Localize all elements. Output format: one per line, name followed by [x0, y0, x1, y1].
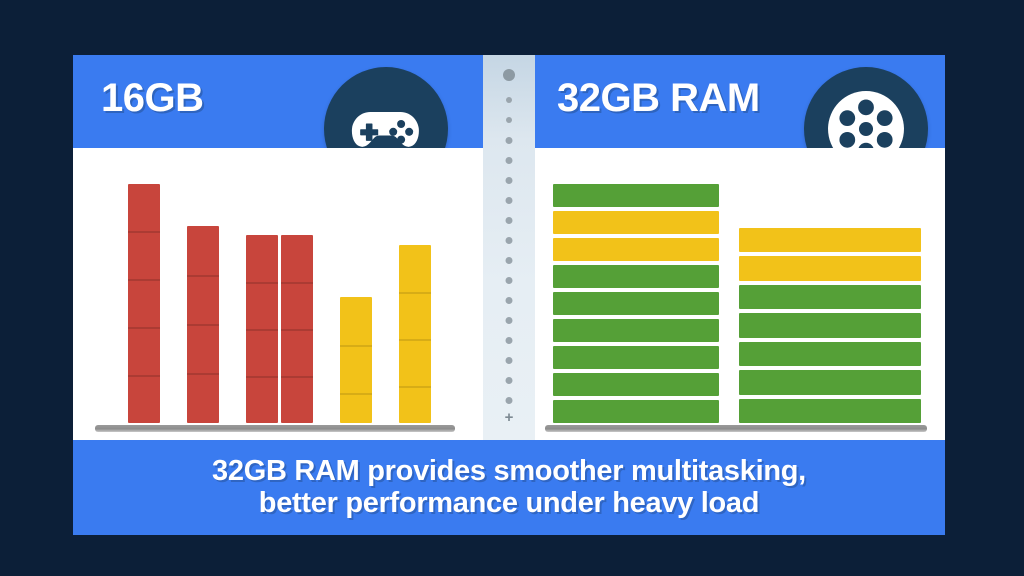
caption-line-1: 32GB RAM provides smoother multitasking, — [212, 456, 806, 487]
caption-line-2: better performance under heavy load — [212, 488, 806, 519]
comparison-card: 16GB 32GB RAM — [73, 55, 945, 535]
bar-left-1 — [128, 184, 160, 423]
caption-band: 32GB RAM provides smoother multitasking,… — [73, 440, 945, 535]
divider-head-dot — [503, 69, 515, 81]
left-panel-title: 16GB — [101, 76, 204, 121]
divider-plus-icon: + — [504, 412, 515, 423]
right-chart-baseline — [545, 425, 927, 432]
right-chart — [535, 148, 945, 440]
right-chart-bars — [535, 148, 945, 440]
left-chart-bars — [73, 148, 483, 440]
bar-left-3 — [246, 235, 278, 423]
left-chart — [73, 148, 483, 440]
bar-right-2 — [739, 224, 921, 423]
bar-left-4 — [281, 235, 313, 423]
center-divider: + — [483, 55, 535, 440]
bar-left-2 — [187, 226, 219, 423]
bar-left-5 — [340, 297, 372, 423]
bar-left-6 — [399, 245, 431, 423]
bar-right-1 — [553, 180, 719, 423]
left-chart-baseline — [95, 425, 455, 432]
caption-text: 32GB RAM provides smoother multitasking,… — [194, 456, 824, 519]
slide-canvas: 16GB 32GB RAM — [0, 0, 1024, 576]
right-panel-title: 32GB RAM — [557, 76, 760, 121]
